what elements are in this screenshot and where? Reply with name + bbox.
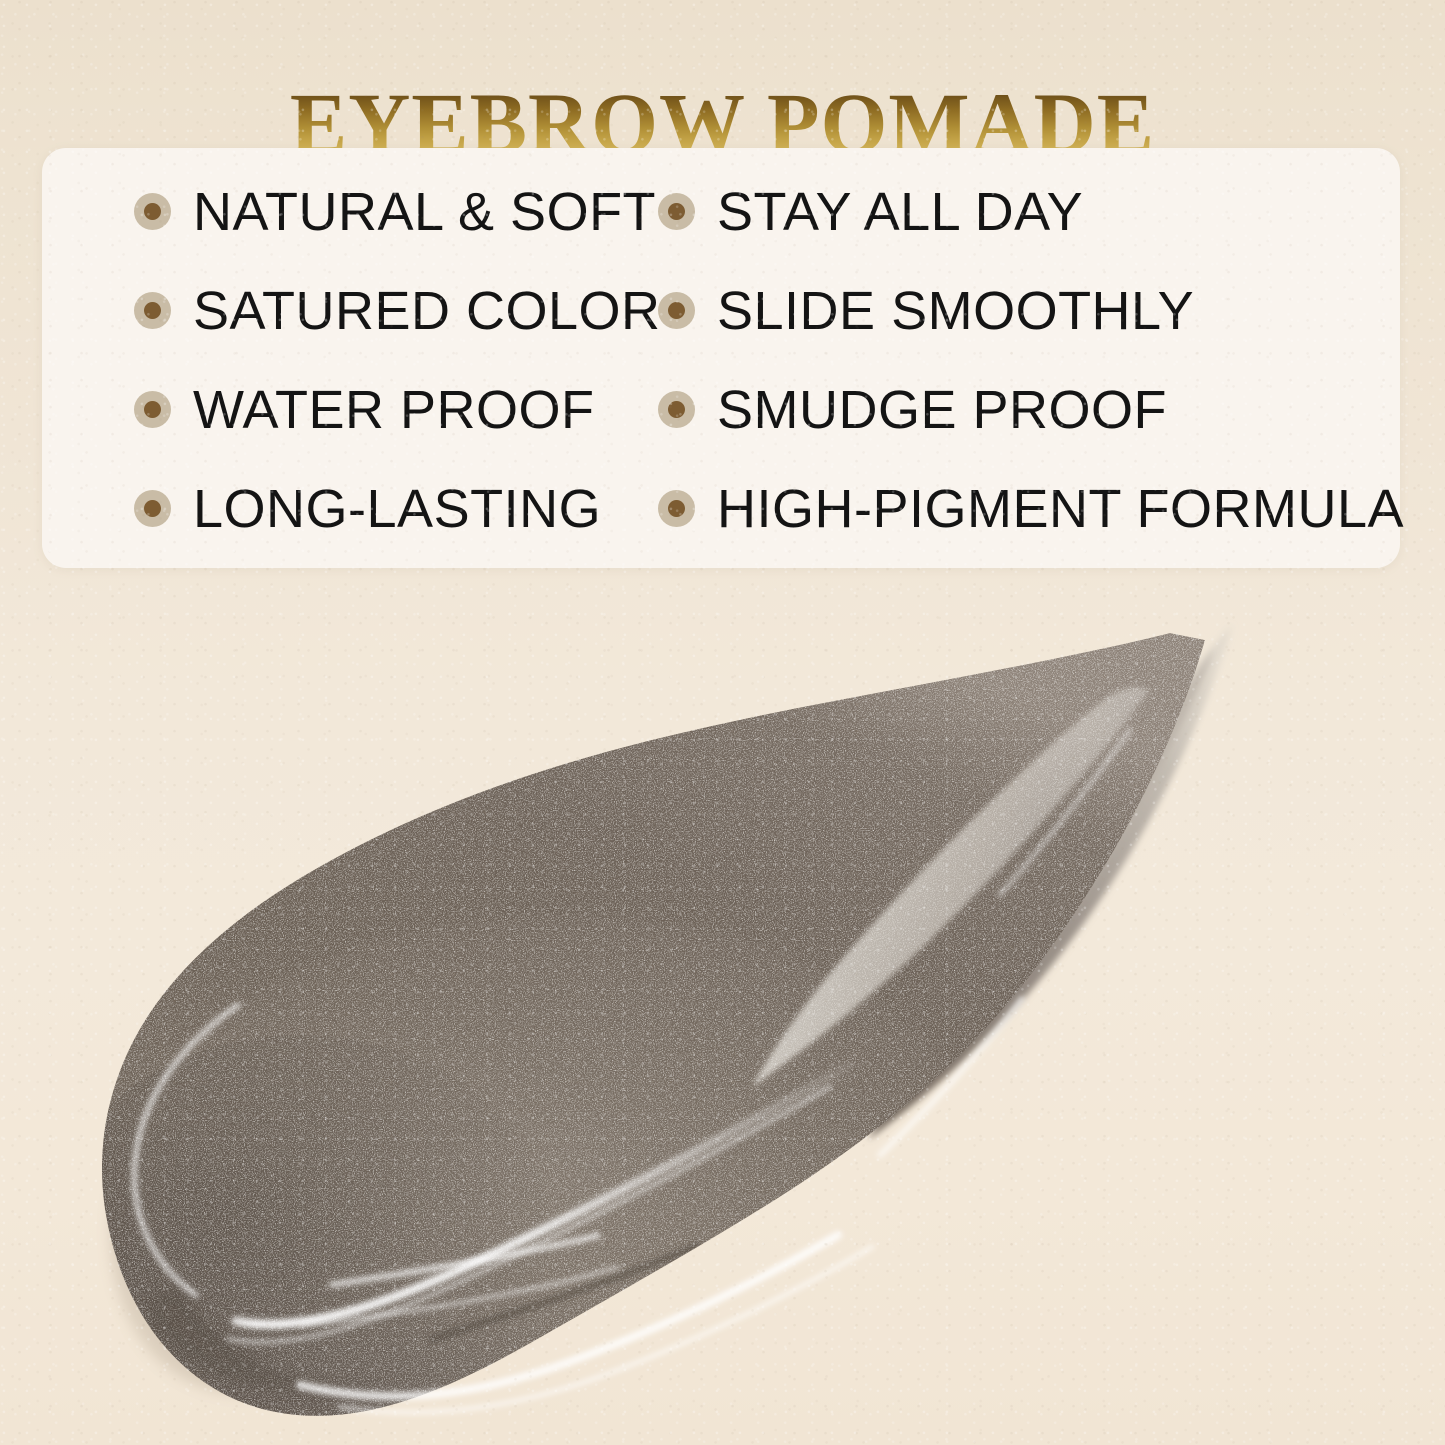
feature-item-natural-soft: NATURAL & SOFT <box>42 185 634 239</box>
bullet-dot-icon <box>658 292 695 329</box>
feature-label: SATURED COLOR <box>193 284 661 338</box>
bullet-dot-icon <box>658 490 695 527</box>
feature-grid: NATURAL & SOFT STAY ALL DAY SATURED COLO… <box>42 148 1400 568</box>
product-swatch-area <box>0 595 1445 1445</box>
bullet-dot-icon <box>134 292 171 329</box>
feature-item-high-pigment-formula: HIGH-PIGMENT FORMULA <box>634 482 1400 536</box>
bullet-dot-icon <box>658 391 695 428</box>
feature-label: HIGH-PIGMENT FORMULA <box>717 482 1404 536</box>
product-poster: EYEBROW POMADE NATURAL & SOFT STAY ALL D… <box>0 0 1445 1445</box>
feature-label: LONG-LASTING <box>193 482 601 536</box>
bullet-dot-icon <box>134 391 171 428</box>
feature-item-long-lasting: LONG-LASTING <box>42 482 634 536</box>
feature-item-smudge-proof: SMUDGE PROOF <box>634 383 1400 437</box>
pomade-smear-swatch <box>0 595 1445 1445</box>
feature-label: SMUDGE PROOF <box>717 383 1167 437</box>
bullet-dot-icon <box>134 490 171 527</box>
feature-label: SLIDE SMOOTHLY <box>717 284 1194 338</box>
feature-item-satured-color: SATURED COLOR <box>42 284 634 338</box>
feature-label: STAY ALL DAY <box>717 185 1083 239</box>
feature-item-slide-smoothly: SLIDE SMOOTHLY <box>634 284 1400 338</box>
bullet-dot-icon <box>134 193 171 230</box>
feature-item-stay-all-day: STAY ALL DAY <box>634 185 1400 239</box>
feature-benefits-card: NATURAL & SOFT STAY ALL DAY SATURED COLO… <box>42 148 1400 568</box>
feature-label: WATER PROOF <box>193 383 594 437</box>
feature-item-water-proof: WATER PROOF <box>42 383 634 437</box>
bullet-dot-icon <box>658 193 695 230</box>
feature-label: NATURAL & SOFT <box>193 185 656 239</box>
